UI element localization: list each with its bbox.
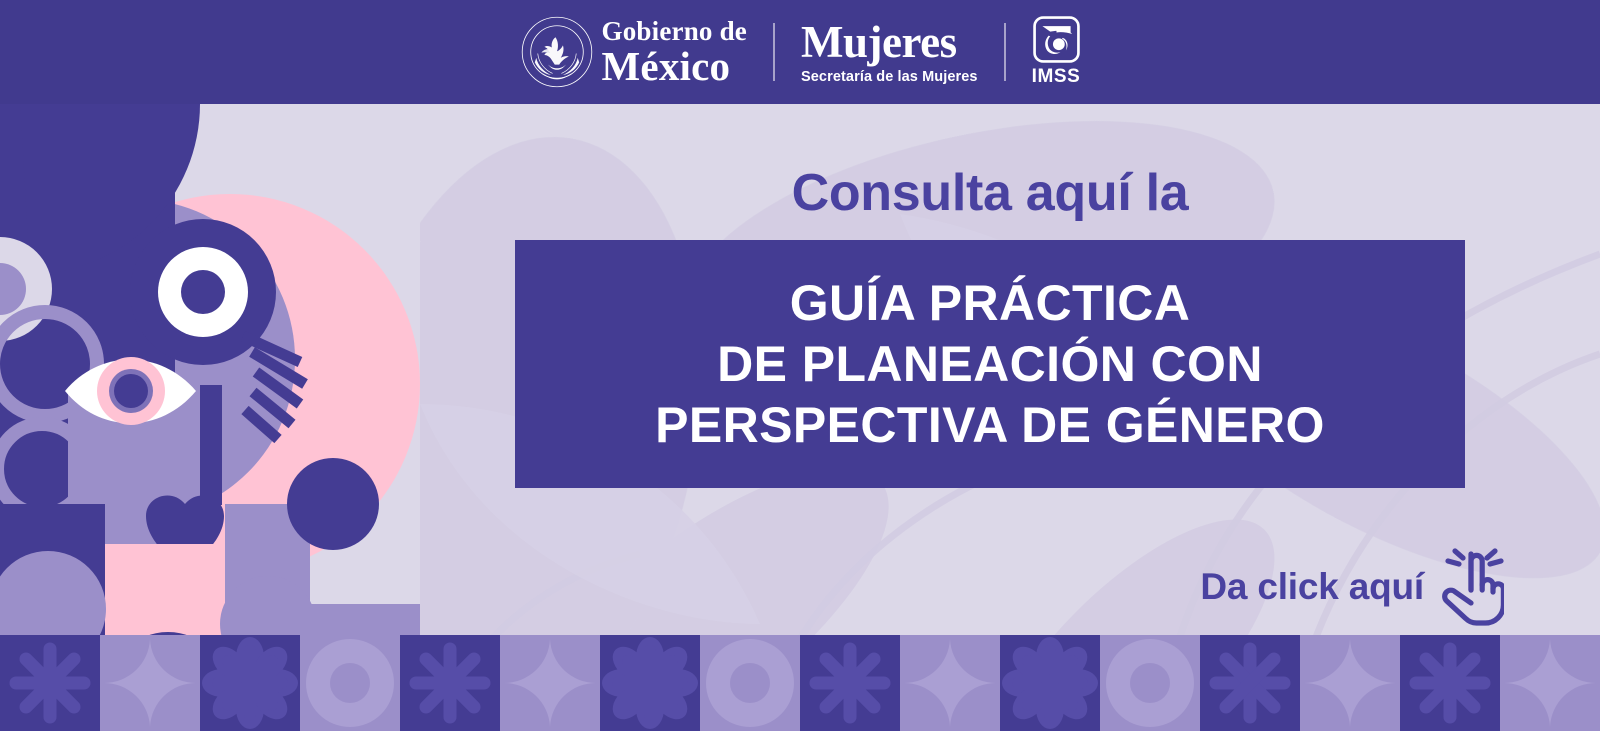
brand-divider-1: [773, 23, 775, 81]
guide-title-line-1: GUÍA PRÁCTICA: [790, 273, 1191, 334]
pointing-hand-click-icon[interactable]: [1438, 545, 1504, 629]
call-to-action[interactable]: Da click aquí: [1200, 545, 1504, 629]
tile-border-pattern: [0, 635, 1600, 731]
government-header-bar: Gobierno de México Mujeres Secretaría de…: [0, 0, 1600, 104]
mujeres-wordmark: Mujeres: [801, 20, 978, 65]
guide-title-box[interactable]: GUÍA PRÁCTICA DE PLANEACIÓN CON PERSPECT…: [515, 240, 1465, 488]
brand-divider-2: [1004, 23, 1006, 81]
page-headline: Consulta aquí la: [515, 163, 1465, 223]
gobierno-de-mexico-wordmark: Gobierno de México: [602, 18, 747, 87]
gobierno-line-2: México: [602, 46, 747, 87]
guide-title-line-3: PERSPECTIVA DE GÉNERO: [655, 395, 1325, 456]
cta-label: Da click aquí: [1200, 566, 1424, 608]
mujeres-subtitle: Secretaría de las Mujeres: [801, 70, 978, 85]
imss-brand[interactable]: IMSS: [1032, 16, 1081, 88]
imss-label: IMSS: [1032, 66, 1081, 88]
imss-eagle-mother-child-icon: [1033, 16, 1080, 63]
gobierno-de-mexico-brand[interactable]: Gobierno de México: [520, 15, 747, 89]
gobierno-line-1: Gobierno de: [602, 18, 747, 45]
mexican-national-seal-icon: [520, 15, 594, 89]
promo-banner[interactable]: Consulta aquí la GUÍA PRÁCTICA DE PLANEA…: [0, 0, 1600, 731]
mujeres-brand[interactable]: Mujeres Secretaría de las Mujeres: [801, 20, 978, 85]
guide-title-line-2: DE PLANEACIÓN CON: [717, 334, 1263, 395]
